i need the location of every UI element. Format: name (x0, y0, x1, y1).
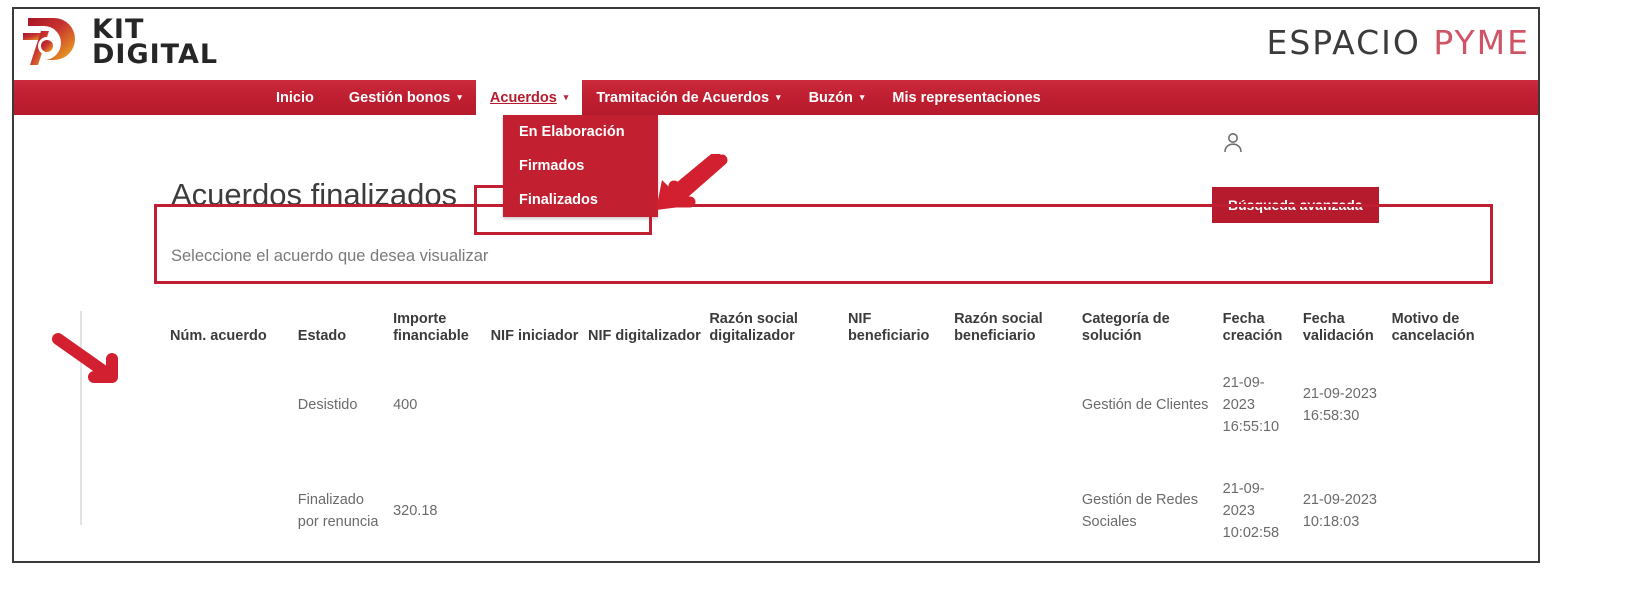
cell-nif-digitalizador (588, 353, 709, 459)
dropdown-item-label: Firmados (519, 158, 584, 174)
cell-categoria-de-solucion: Gestión de Clientes (1082, 353, 1223, 459)
page-subtitle: Seleccione el acuerdo que desea visualiz… (171, 247, 488, 266)
column-header-razon-social-beneficiario: Razón social beneficiario (954, 283, 1082, 353)
acuerdos-dropdown-menu: En Elaboración Firmados Finalizados (503, 115, 658, 217)
main-navigation: Inicio Gestión bonos ▾ Acuerdos ▾ Tramit… (14, 80, 1538, 115)
nav-item-label: Inicio (276, 90, 314, 106)
column-header-fecha-validacion: Fecha validación (1303, 283, 1392, 353)
screenshot-root: KIT DIGITAL ESPACIO PYME Inicio Gestión … (0, 0, 1642, 592)
chevron-down-icon: ▾ (860, 93, 865, 102)
cell-nif-beneficiario (848, 353, 954, 459)
cell-importe-financiable: 320.18 (393, 459, 490, 563)
advanced-search-button[interactable]: Búsqueda avanzada (1212, 187, 1379, 223)
cell-motivo-de-cancelacion (1392, 353, 1500, 459)
cell-categoria-de-solucion: Gestión de Redes Sociales (1082, 459, 1223, 563)
page-frame: KIT DIGITAL ESPACIO PYME Inicio Gestión … (12, 7, 1540, 563)
nav-item-acuerdos[interactable]: Acuerdos ▾ (476, 80, 582, 115)
cell-razon-social-beneficiario (954, 459, 1082, 563)
column-header-categoria-de-solucion: Categoría de solución (1082, 283, 1223, 353)
cell-fecha-validacion: 21-09-2023 16:58:30 (1303, 353, 1392, 459)
cell-nif-iniciador (491, 353, 588, 459)
dropdown-item-finalizados[interactable]: Finalizados (503, 183, 658, 217)
column-header-nif-digitalizador: NIF digitalizador (588, 283, 709, 353)
cell-razon-social-beneficiario (954, 353, 1082, 459)
column-header-motivo-de-cancelacion: Motivo de cancelación (1392, 283, 1500, 353)
kit-digital-logo[interactable]: KIT DIGITAL (20, 13, 218, 71)
kit-digital-logo-icon (20, 13, 82, 71)
site-header: KIT DIGITAL ESPACIO PYME (14, 9, 1538, 80)
cell-estado: Finalizado por renuncia (298, 459, 393, 563)
column-header-fecha-creacion: Fecha creación (1223, 283, 1303, 353)
cell-fecha-creacion: 21-09-2023 10:02:58 (1223, 459, 1303, 563)
column-header-num-acuerdo: Núm. acuerdo (170, 283, 298, 353)
espacio-pyme-wordmark: ESPACIO PYME (1267, 23, 1531, 62)
cell-nif-digitalizador (588, 459, 709, 563)
column-header-estado: Estado (298, 283, 393, 353)
cell-fecha-creacion: 21-09-2023 16:55:10 (1223, 353, 1303, 459)
brand-word-pyme: PYME (1433, 23, 1530, 62)
agreements-table: Núm. acuerdo Estado Importe financiable … (170, 283, 1500, 563)
user-account-icon[interactable] (1222, 131, 1244, 155)
cell-fecha-validacion: 21-09-2023 10:18:03 (1303, 459, 1392, 563)
nav-item-buzon[interactable]: Buzón ▾ (795, 80, 879, 115)
dropdown-item-label: Finalizados (519, 192, 598, 208)
table-body: Desistido 400 Gestión de Clientes 21-09-… (170, 353, 1500, 563)
column-header-razon-social-digitalizador: Razón social digitalizador (709, 283, 848, 353)
chevron-down-icon: ▾ (564, 93, 569, 102)
cell-razon-social-digitalizador (709, 459, 848, 563)
nav-item-label: Gestión bonos (349, 90, 451, 106)
dropdown-item-firmados[interactable]: Firmados (503, 149, 658, 183)
agreements-table-area: Núm. acuerdo Estado Importe financiable … (14, 283, 1538, 561)
cell-nif-beneficiario (848, 459, 954, 563)
nav-item-label: Buzón (809, 90, 853, 106)
dropdown-item-label: En Elaboración (519, 124, 625, 140)
cell-razon-social-digitalizador (709, 353, 848, 459)
table-header: Núm. acuerdo Estado Importe financiable … (170, 283, 1500, 353)
page-title: Acuerdos finalizados (171, 177, 457, 213)
nav-item-mis-representaciones[interactable]: Mis representaciones (878, 80, 1061, 115)
cell-importe-financiable: 400 (393, 353, 490, 459)
nav-item-gestion-bonos[interactable]: Gestión bonos ▾ (335, 80, 476, 115)
column-header-nif-iniciador: NIF iniciador (491, 283, 588, 353)
cell-num-acuerdo (170, 459, 298, 563)
cell-estado: Desistido (298, 353, 393, 459)
brand-word-espacio: ESPACIO (1267, 23, 1421, 62)
page-content: Acuerdos finalizados Seleccione el acuer… (14, 115, 1538, 561)
cell-nif-iniciador (491, 459, 588, 563)
dropdown-item-en-elaboracion[interactable]: En Elaboración (503, 115, 658, 149)
table-row[interactable]: Desistido 400 Gestión de Clientes 21-09-… (170, 353, 1500, 459)
cell-num-acuerdo (170, 353, 298, 459)
nav-item-label: Acuerdos (490, 90, 557, 106)
nav-item-label: Mis representaciones (892, 90, 1040, 106)
vertical-scrollbar[interactable] (80, 311, 82, 525)
logo-line-2: DIGITAL (92, 42, 218, 67)
nav-item-inicio[interactable]: Inicio (262, 80, 335, 115)
chevron-down-icon: ▾ (776, 93, 781, 102)
column-header-nif-beneficiario: NIF beneficiario (848, 283, 954, 353)
column-header-importe-financiable: Importe financiable (393, 283, 490, 353)
kit-digital-wordmark: KIT DIGITAL (92, 17, 218, 68)
chevron-down-icon: ▾ (457, 93, 462, 102)
cell-motivo-de-cancelacion (1392, 459, 1500, 563)
nav-item-label: Tramitación de Acuerdos (596, 90, 769, 106)
table-row[interactable]: Finalizado por renuncia 320.18 Gestión d… (170, 459, 1500, 563)
nav-item-tramitacion-de-acuerdos[interactable]: Tramitación de Acuerdos ▾ (582, 80, 794, 115)
table-header-row: Núm. acuerdo Estado Importe financiable … (170, 283, 1500, 353)
